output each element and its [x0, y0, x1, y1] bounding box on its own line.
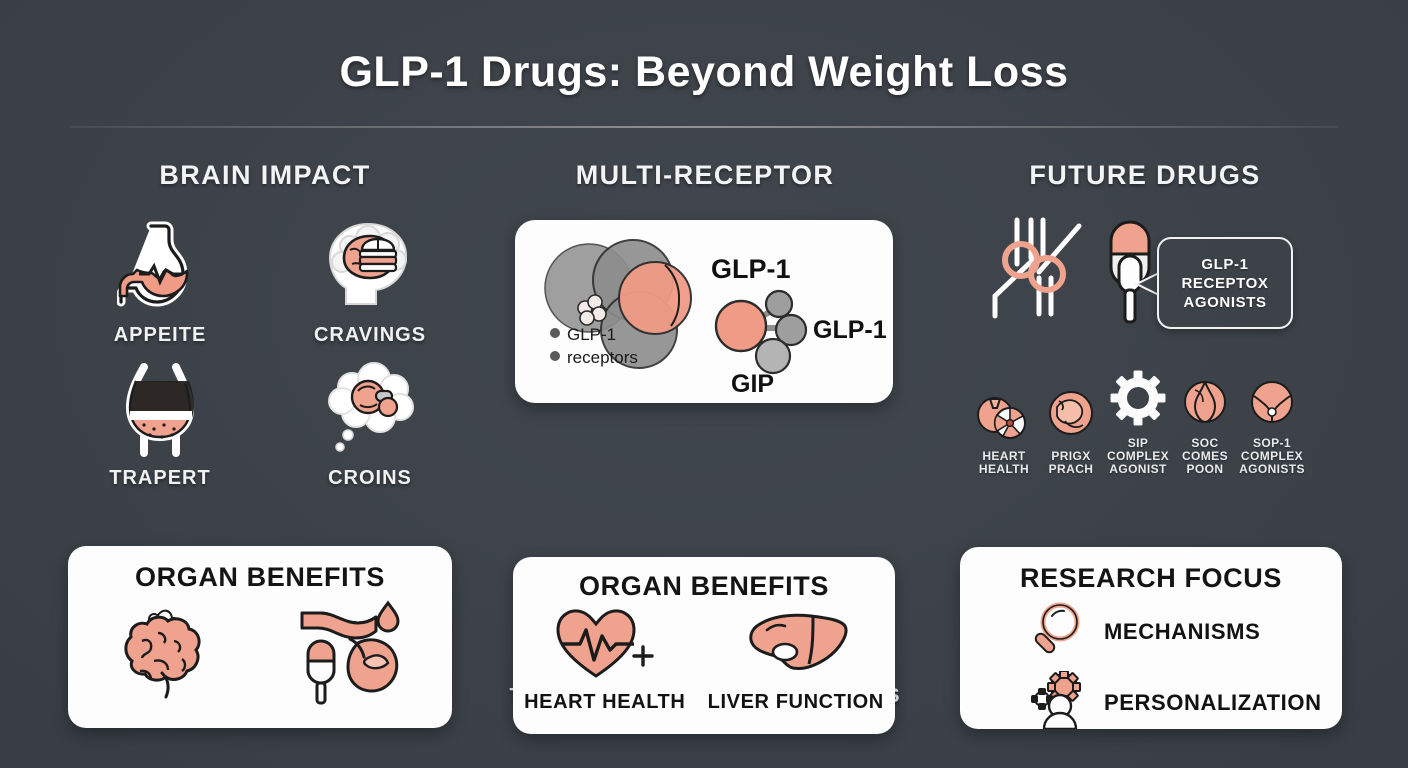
item-label: HEART HEALTH	[524, 691, 685, 714]
column-heading-2: MULTI-RECEPTOR	[495, 160, 915, 191]
item-label: CRAVINGS	[314, 324, 426, 347]
column-future-drugs: FUTURE DRUGS	[935, 160, 1355, 191]
stomach-icon	[117, 218, 203, 316]
title-divider	[70, 126, 1338, 128]
item-cravings[interactable]: CRAVINGS	[265, 218, 475, 347]
svg-text:GLP-1: GLP-1	[813, 316, 887, 344]
mini-item-sop1-complex-agonists[interactable]: SOP-1 COMPLEX AGONISTS	[1241, 378, 1303, 476]
item-label: LIVER FUNCTION	[708, 691, 884, 714]
mini-item-sip-complex-agonist[interactable]: SIP COMPLEX AGONIST	[1107, 350, 1169, 476]
cell-badge-icon	[1181, 378, 1229, 431]
callout-line-2: RECEPTOX	[1181, 274, 1268, 293]
speech-bubble-icon: GLP-1 RECEPTOX AGONISTS	[1157, 237, 1293, 329]
svg-text:receptors: receptors	[567, 348, 638, 367]
heart-badge-icon	[975, 393, 1033, 444]
item-croins[interactable]: CROINS	[265, 359, 475, 490]
mini-label: SIP COMPLEX AGONIST	[1107, 437, 1169, 476]
thought-bubble-food-icon	[318, 359, 422, 459]
card-organ-benefits-left: ORGAN BENEFITS	[68, 546, 452, 728]
heart-ecg-icon	[552, 604, 658, 687]
molecule-badge-icon	[1248, 378, 1296, 431]
column-multi-receptor: MULTI-RECEPTOR	[495, 160, 915, 191]
gear-person-icon	[1030, 671, 1088, 734]
item-label: MECHANISMS	[1104, 619, 1260, 645]
page-title: GLP-1 Drugs: Beyond Weight Loss	[0, 48, 1408, 97]
item-mechanisms[interactable]: MECHANISMS	[960, 600, 1342, 663]
card-title: ORGAN BENEFITS	[513, 557, 895, 602]
item-label: CROINS	[328, 467, 412, 490]
item-heart-health[interactable]: HEART HEALTH	[524, 604, 685, 714]
organ-badge-icon	[1045, 387, 1097, 444]
item-personalization[interactable]: PERSONALIZATION	[960, 671, 1342, 734]
molecule-structure-icon	[987, 212, 1107, 327]
column-heading-1: BRAIN IMPACT	[55, 160, 475, 191]
mini-label: SOC COMES POON	[1182, 437, 1228, 476]
svg-text:GLP-1: GLP-1	[567, 325, 616, 344]
mini-item-prigx-prach[interactable]: PRIGX PRACH	[1040, 353, 1102, 476]
receptor-venn-diagram: GLP-1 GLP-1 receptors GLP-1 GIP	[515, 220, 893, 403]
column-heading-3: FUTURE DRUGS	[935, 160, 1355, 191]
intestine-icon	[114, 359, 206, 459]
card-research-focus: RESEARCH FOCUS MECHANISMS	[960, 547, 1342, 729]
mini-item-soc-comes-poon[interactable]: SOC COMES POON	[1174, 370, 1236, 476]
svg-text:GIP: GIP	[731, 370, 774, 398]
item-appeite[interactable]: APPEITE	[55, 218, 265, 347]
magnifier-icon	[1030, 600, 1088, 663]
mini-label: PRIGX PRACH	[1049, 450, 1094, 476]
card-organ-benefits-middle: ORGAN BENEFITS HEART HEALTH	[513, 557, 895, 734]
infographic-page: GLP-1 Drugs: Beyond Weight Loss BRAIN IM…	[0, 0, 1408, 768]
item-liver-function[interactable]: LIVER FUNCTION	[708, 604, 884, 714]
card-title: RESEARCH FOCUS	[960, 547, 1342, 594]
item-trapert[interactable]: TRAPERT	[55, 359, 265, 490]
callout-line-1: GLP-1	[1181, 255, 1268, 274]
head-brain-burger-icon	[316, 218, 424, 316]
mini-label: SOP-1 COMPLEX AGONISTS	[1239, 437, 1305, 476]
card-receptor-diagram: GLP-1 GLP-1 receptors GLP-1 GIP	[515, 220, 893, 403]
item-label: PERSONALIZATION	[1104, 690, 1322, 716]
callout-line-3: AGONISTS	[1181, 293, 1268, 312]
gear-icon	[1110, 370, 1166, 431]
card-title: ORGAN BENEFITS	[68, 546, 452, 593]
mini-item-heart-health[interactable]: HEART HEALTH	[973, 353, 1035, 476]
kidney-injection-icon	[284, 597, 424, 714]
brain-impact-grid: APPEITE	[55, 218, 475, 490]
item-label: APPEITE	[114, 324, 207, 347]
svg-text:GLP-1: GLP-1	[711, 254, 791, 284]
future-drug-mini-row: HEART HEALTH PRIGX PRACH	[973, 350, 1303, 476]
mini-label: HEART HEALTH	[979, 450, 1029, 476]
liver-icon	[741, 604, 851, 687]
item-label: TRAPERT	[109, 467, 210, 490]
brain-icon	[96, 597, 228, 714]
callout-text: GLP-1 RECEPTOX AGONISTS	[1181, 255, 1268, 312]
column-brain-impact: BRAIN IMPACT APPEITE	[55, 160, 475, 191]
